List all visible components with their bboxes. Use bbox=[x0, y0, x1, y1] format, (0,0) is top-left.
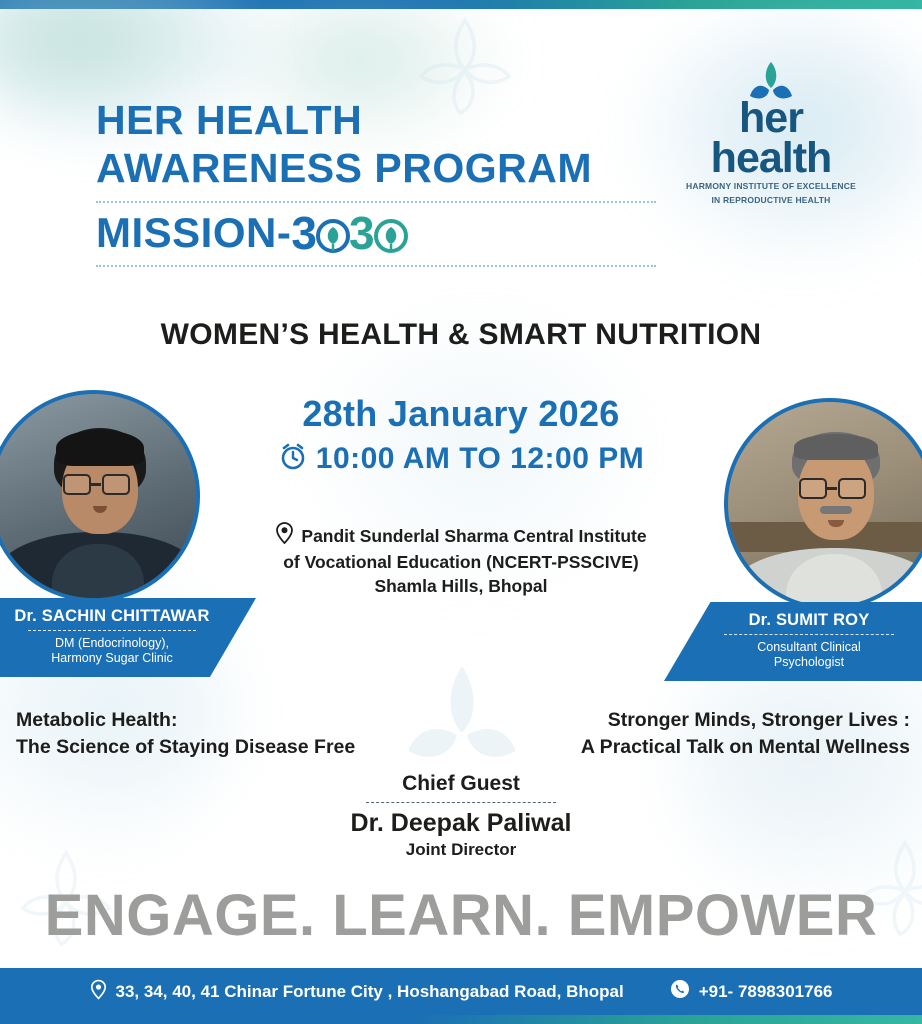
alarm-clock-icon bbox=[278, 441, 308, 476]
her-health-logo: her health HARMONY INSTITUTE OF EXCELLEN… bbox=[676, 60, 866, 206]
mission-number: 3 3 bbox=[291, 210, 406, 256]
logo-tagline-line-2: IN REPRODUCTIVE HEALTH bbox=[676, 195, 866, 206]
footer-address: 33, 34, 40, 41 Chinar Fortune City , Hos… bbox=[116, 982, 624, 1002]
footer-address-item: 33, 34, 40, 41 Chinar Fortune City , Hos… bbox=[90, 979, 624, 1005]
speaker-role-left-line-1: DM (Endocrinology), bbox=[12, 636, 212, 651]
headline-block: HER HEALTH AWARENESS PROGRAM MISSION- 3 … bbox=[96, 96, 676, 267]
event-time: 10:00 AM TO 12:00 PM bbox=[316, 442, 644, 476]
mission-label: MISSION- bbox=[96, 209, 291, 257]
talk-right-line-2: A Practical Talk on Mental Wellness bbox=[490, 734, 910, 761]
divider-dotted bbox=[96, 201, 656, 203]
venue-line-1-row: Pandit Sunderlal Sharma Central Institut… bbox=[275, 522, 646, 550]
speaker-photo-right bbox=[724, 398, 922, 610]
speaker-name-banner-left: Dr. SACHIN CHITTAWAR DM (Endocrinology),… bbox=[0, 598, 256, 677]
seed-leaf-icon-1 bbox=[315, 213, 351, 253]
talk-left-line-1: Metabolic Health: bbox=[16, 707, 416, 734]
headline-line-2: AWARENESS PROGRAM bbox=[96, 144, 676, 192]
poster: HER HEALTH AWARENESS PROGRAM MISSION- 3 … bbox=[0, 0, 922, 1024]
mission-row: MISSION- 3 3 bbox=[96, 209, 676, 257]
seed-leaf-icon-2 bbox=[373, 213, 409, 253]
footer-phone: +91- 7898301766 bbox=[699, 982, 833, 1002]
divider-dashed bbox=[724, 634, 894, 635]
bottom-accent-bar bbox=[0, 1015, 922, 1024]
chief-guest-title: Joint Director bbox=[0, 840, 922, 860]
speaker-name-right: Dr. SUMIT ROY bbox=[708, 611, 910, 630]
location-pin-icon bbox=[275, 522, 294, 550]
speaker-name-banner-right: Dr. SUMIT ROY Consultant Clinical Psycho… bbox=[664, 602, 922, 681]
talk-title-left: Metabolic Health: The Science of Staying… bbox=[16, 707, 416, 761]
footer-contact-bar: 33, 34, 40, 41 Chinar Fortune City , Hos… bbox=[0, 968, 922, 1015]
venue-line-1: Pandit Sunderlal Sharma Central Institut… bbox=[301, 524, 646, 548]
chief-guest-name: Dr. Deepak Paliwal bbox=[0, 809, 922, 838]
phone-icon bbox=[670, 979, 690, 1004]
speaker-name-left: Dr. SACHIN CHITTAWAR bbox=[12, 607, 212, 626]
location-pin-icon bbox=[90, 979, 107, 1005]
headline-line-1: HER HEALTH bbox=[96, 96, 676, 144]
logo-word-health: health bbox=[676, 138, 866, 178]
speaker-role-left-line-2: Harmony Sugar Clinic bbox=[12, 651, 212, 666]
talk-left-line-2: The Science of Staying Disease Free bbox=[16, 734, 416, 761]
divider-dashed-2 bbox=[366, 802, 556, 803]
speaker-role-right-line-2: Psychologist bbox=[708, 655, 910, 670]
chief-guest-block: Chief Guest Dr. Deepak Paliwal Joint Dir… bbox=[0, 772, 922, 860]
speaker-photo-left bbox=[0, 390, 200, 602]
mission-digit-3: 3 bbox=[349, 210, 375, 256]
logo-tagline-line-1: HARMONY INSTITUTE OF EXCELLENCE bbox=[676, 181, 866, 192]
divider-dotted-2 bbox=[96, 265, 656, 267]
footer-phone-item[interactable]: +91- 7898301766 bbox=[670, 979, 833, 1004]
divider-dashed bbox=[28, 630, 196, 631]
slogan: ENGAGE. LEARN. EMPOWER bbox=[0, 882, 922, 949]
logo-word-her: her bbox=[676, 98, 866, 138]
speaker-role-right-line-1: Consultant Clinical bbox=[708, 640, 910, 655]
program-subtitle: WOMEN’S HEALTH & SMART NUTRITION bbox=[0, 318, 922, 352]
top-accent-bar bbox=[0, 0, 922, 9]
talk-title-right: Stronger Minds, Stronger Lives : A Pract… bbox=[490, 707, 910, 761]
talk-right-line-1: Stronger Minds, Stronger Lives : bbox=[490, 707, 910, 734]
mission-digit-1: 3 bbox=[291, 210, 317, 256]
chief-guest-label: Chief Guest bbox=[0, 772, 922, 796]
